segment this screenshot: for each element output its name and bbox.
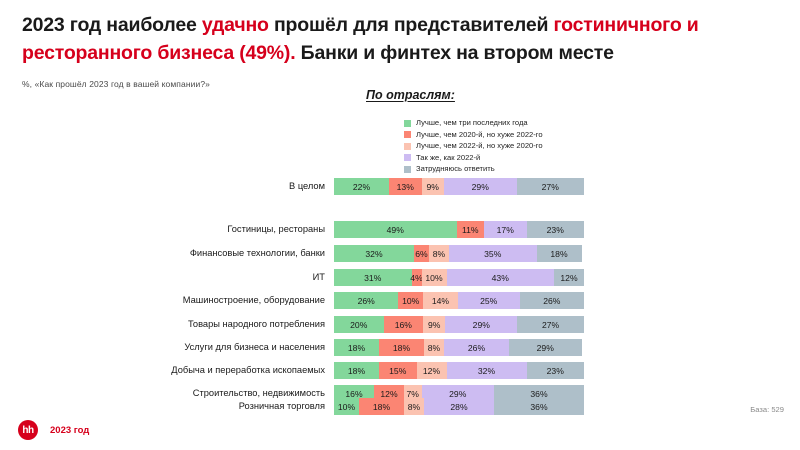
chart-segment: 15% (379, 362, 417, 379)
chart-segment-label: 23% (547, 225, 564, 235)
chart-row: Услуги для бизнеса и населения18%18%8%26… (0, 339, 584, 356)
chart-segment-label: 9% (428, 320, 440, 330)
chart-segment: 13% (389, 178, 422, 195)
chart-segment: 43% (447, 269, 555, 286)
chart-segment-label: 29% (449, 389, 466, 399)
chart-segment: 8% (424, 339, 444, 356)
chart-segment: 29% (509, 339, 582, 356)
chart-row-label: Услуги для бизнеса и населения (0, 339, 334, 356)
chart-segment-label: 7% (407, 389, 419, 399)
chart-segment-label: 12% (560, 273, 577, 283)
chart-segment: 26% (520, 292, 584, 309)
chart-segment: 27% (517, 316, 584, 333)
chart-segment: 11% (457, 221, 485, 238)
chart-segment-label: 10% (338, 402, 355, 412)
chart-segment-label: 32% (365, 249, 382, 259)
chart-segment: 9% (423, 316, 445, 333)
chart-segment-label: 10% (402, 296, 419, 306)
chart-segment: 4% (412, 269, 422, 286)
chart-segment: 8% (429, 245, 449, 262)
chart-segment-label: 22% (353, 182, 370, 192)
stacked-bar-chart: В целом22%13%9%29%27%Гостиницы, ресторан… (0, 0, 800, 450)
chart-row-bar: 32%6%8%35%18% (334, 245, 584, 262)
base-note: База: 529 (750, 405, 784, 414)
chart-segment-label: 8% (433, 249, 445, 259)
chart-row-bar: 18%18%8%26%29% (334, 339, 584, 356)
chart-segment-label: 16% (345, 389, 362, 399)
chart-segment-label: 26% (468, 343, 485, 353)
chart-segment: 20% (334, 316, 384, 333)
chart-row-label: ИТ (0, 269, 334, 286)
chart-segment: 17% (484, 221, 527, 238)
chart-segment: 18% (334, 339, 379, 356)
chart-segment: 9% (422, 178, 445, 195)
chart-segment-label: 12% (380, 389, 397, 399)
chart-segment: 23% (527, 362, 585, 379)
chart-segment-label: 18% (348, 366, 365, 376)
chart-segment-label: 49% (387, 225, 404, 235)
chart-segment: 29% (445, 316, 517, 333)
chart-segment-label: 16% (395, 320, 412, 330)
chart-segment: 18% (537, 245, 582, 262)
chart-segment: 36% (494, 398, 584, 415)
chart-segment: 35% (449, 245, 537, 262)
chart-row-label: Финансовые технологии, банки (0, 245, 334, 262)
hh-logo-icon: hh (18, 420, 38, 440)
chart-row-label: Розничная торговля (0, 398, 334, 415)
chart-row-bar: 20%16%9%29%27% (334, 316, 584, 333)
chart-segment-label: 29% (537, 343, 554, 353)
chart-segment-label: 36% (530, 402, 547, 412)
chart-segment: 10% (422, 269, 447, 286)
chart-segment: 32% (447, 362, 527, 379)
chart-segment-label: 6% (415, 249, 427, 259)
chart-segment-label: 18% (348, 343, 365, 353)
chart-segment: 18% (334, 362, 379, 379)
chart-segment-label: 26% (358, 296, 375, 306)
chart-segment-label: 8% (408, 402, 420, 412)
chart-segment-label: 32% (478, 366, 495, 376)
chart-segment-label: 18% (393, 343, 410, 353)
chart-row: Розничная торговля10%18%8%28%36% (0, 398, 584, 415)
chart-segment: 6% (414, 245, 429, 262)
chart-row-bar: 49%11%17%23% (334, 221, 584, 238)
footer-brand: hh 2023 год (18, 420, 89, 440)
chart-row-label: Машиностроение, оборудование (0, 292, 334, 309)
chart-segment: 29% (444, 178, 517, 195)
chart-segment: 12% (554, 269, 584, 286)
chart-segment-label: 8% (428, 343, 440, 353)
chart-segment: 14% (423, 292, 458, 309)
chart-row-label: Гостиницы, рестораны (0, 221, 334, 238)
chart-segment: 26% (444, 339, 509, 356)
chart-segment: 26% (334, 292, 398, 309)
chart-segment: 10% (398, 292, 423, 309)
chart-row-label: Товары народного потребления (0, 316, 334, 333)
chart-segment-label: 43% (492, 273, 509, 283)
chart-segment-label: 10% (425, 273, 442, 283)
chart-segment-label: 18% (373, 402, 390, 412)
chart-segment: 22% (334, 178, 389, 195)
chart-segment: 32% (334, 245, 414, 262)
chart-segment: 8% (404, 398, 424, 415)
chart-segment-label: 13% (397, 182, 414, 192)
chart-segment-label: 26% (543, 296, 560, 306)
chart-segment-label: 14% (432, 296, 449, 306)
chart-segment-label: 27% (542, 182, 559, 192)
chart-segment: 28% (424, 398, 494, 415)
footer-label: 2023 год (50, 425, 89, 436)
chart-segment: 27% (517, 178, 585, 195)
chart-segment-label: 11% (462, 225, 479, 235)
chart-segment: 18% (379, 339, 424, 356)
chart-segment: 16% (384, 316, 424, 333)
chart-segment: 31% (334, 269, 412, 286)
chart-segment-label: 15% (389, 366, 406, 376)
chart-segment: 12% (417, 362, 447, 379)
chart-segment: 49% (334, 221, 457, 238)
chart-segment-label: 36% (530, 389, 547, 399)
chart-row: Товары народного потребления20%16%9%29%2… (0, 316, 584, 333)
chart-segment-label: 27% (542, 320, 559, 330)
chart-segment-label: 23% (547, 366, 564, 376)
chart-row-label: Добыча и переработка ископаемых (0, 362, 334, 379)
chart-row: Гостиницы, рестораны49%11%17%23% (0, 221, 584, 238)
chart-segment-label: 20% (350, 320, 367, 330)
chart-row-label: В целом (0, 178, 334, 195)
chart-row-bar: 10%18%8%28%36% (334, 398, 584, 415)
chart-row-bar: 26%10%14%25%26% (334, 292, 584, 309)
chart-row: Машиностроение, оборудование26%10%14%25%… (0, 292, 584, 309)
chart-segment: 25% (458, 292, 520, 309)
chart-row: Финансовые технологии, банки32%6%8%35%18… (0, 245, 584, 262)
chart-segment-label: 35% (484, 249, 501, 259)
chart-row-bar: 22%13%9%29%27% (334, 178, 584, 195)
chart-segment-label: 17% (497, 225, 514, 235)
chart-row-bar: 18%15%12%32%23% (334, 362, 584, 379)
chart-row: В целом22%13%9%29%27% (0, 178, 584, 195)
chart-segment: 18% (359, 398, 404, 415)
chart-segment-label: 12% (423, 366, 440, 376)
chart-row: Добыча и переработка ископаемых18%15%12%… (0, 362, 584, 379)
chart-segment-label: 9% (427, 182, 439, 192)
chart-segment-label: 31% (364, 273, 381, 283)
chart-segment-label: 25% (480, 296, 497, 306)
chart-segment: 10% (334, 398, 359, 415)
chart-segment-label: 18% (550, 249, 567, 259)
chart-segment-label: 29% (473, 320, 490, 330)
chart-segment-label: 28% (450, 402, 467, 412)
chart-row: ИТ31%4%10%43%12% (0, 269, 584, 286)
chart-row-bar: 31%4%10%43%12% (334, 269, 584, 286)
chart-segment: 23% (527, 221, 585, 238)
chart-segment-label: 29% (472, 182, 489, 192)
